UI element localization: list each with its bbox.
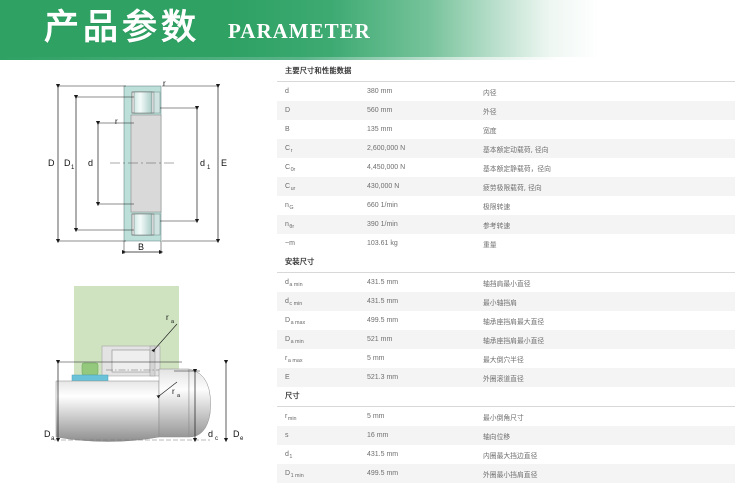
row-value: 2,600,000 N	[359, 139, 475, 158]
svg-text:d: d	[200, 158, 205, 168]
row-symbol: da min	[277, 273, 359, 292]
row-description: 内径	[475, 82, 735, 101]
row-description: 极限转速	[475, 196, 735, 215]
row-symbol-subscript: G	[289, 205, 294, 211]
svg-text:D: D	[64, 158, 71, 168]
table-row: B 135 mm 宽度	[277, 120, 735, 139]
row-symbol: Da min	[277, 330, 359, 349]
table-row: ~m 103.61 kg 重量	[277, 234, 735, 253]
main-dimensions-table: d 380 mm 内径 D 560 mm 外径 B 135 mm 宽度 Cr 2…	[277, 82, 735, 253]
row-description: 基本额定动载荷, 径向	[475, 139, 735, 158]
row-symbol-subscript: ur	[290, 186, 295, 192]
row-value: 499.5 mm	[359, 464, 475, 483]
svg-text:D: D	[48, 158, 55, 168]
svg-text:D: D	[44, 429, 51, 439]
row-symbol-subscript: c min	[289, 301, 302, 307]
svg-text:d: d	[208, 429, 213, 439]
dimensions-table: rmin 5 mm 最小倒角尺寸 s 16 mm 轴向位移 d1 431.5 m…	[277, 407, 735, 483]
row-symbol: ~m	[277, 234, 359, 253]
banner-title-group: 产品参数 PARAMETER	[44, 0, 371, 57]
page-header-banner: 产品参数 PARAMETER	[0, 0, 750, 57]
table-row: Cr 2,600,000 N 基本额定动载荷, 径向	[277, 139, 735, 158]
page-title: 产品参数	[44, 11, 200, 46]
row-value: 431.5 mm	[359, 445, 475, 464]
svg-text:r: r	[166, 313, 169, 322]
row-symbol: d1	[277, 445, 359, 464]
row-symbol: C0r	[277, 158, 359, 177]
section-heading-main-dimensions: 主要尺寸和性能数据	[277, 62, 735, 81]
table-row: Da min 521 mm 轴承座挡肩最小直径	[277, 330, 735, 349]
row-symbol-subscript: 0r	[290, 167, 295, 173]
row-symbol-subscript: θr	[289, 224, 294, 230]
svg-text:c: c	[215, 436, 218, 442]
row-value: 431.5 mm	[359, 292, 475, 311]
row-value: 380 mm	[359, 82, 475, 101]
table-row: rmin 5 mm 最小倒角尺寸	[277, 407, 735, 426]
row-symbol-subscript: min	[287, 416, 296, 422]
bearing-cross-section-drawing: D D 1 d d 1 E	[22, 66, 262, 261]
svg-text:D: D	[233, 429, 240, 439]
section-heading-mounting-dimensions: 安装尺寸	[277, 253, 735, 272]
row-symbol-subscript: a min	[289, 282, 303, 288]
table-row: D 560 mm 外径	[277, 101, 735, 120]
row-value: 103.61 kg	[359, 234, 475, 253]
row-symbol-subscript: 1	[289, 454, 293, 460]
technical-drawings: D D 1 d d 1 E	[0, 62, 272, 482]
row-symbol-subscript: r	[290, 148, 292, 154]
row-symbol: nG	[277, 196, 359, 215]
row-symbol-subscript: a max	[290, 320, 305, 326]
row-value: 660 1/min	[359, 196, 475, 215]
parameter-table-panel: 主要尺寸和性能数据 d 380 mm 内径 D 560 mm 外径 B 135 …	[277, 62, 735, 477]
table-row: s 16 mm 轴向位移	[277, 426, 735, 445]
row-value: 521.3 mm	[359, 368, 475, 387]
row-description: 疲劳极限载荷, 径向	[475, 177, 735, 196]
row-value: 560 mm	[359, 101, 475, 120]
table-row: d1 431.5 mm 内圈最大挡边直径	[277, 445, 735, 464]
row-description: 外径	[475, 101, 735, 120]
row-description: 重量	[475, 234, 735, 253]
row-symbol-subscript: 1 min	[290, 473, 304, 479]
table-row: dc min 431.5 mm 最小轴挡肩	[277, 292, 735, 311]
svg-text:r: r	[163, 79, 166, 88]
section-heading-dimensions: 尺寸	[277, 387, 735, 406]
table-row: d 380 mm 内径	[277, 82, 735, 101]
row-symbol: E	[277, 368, 359, 387]
row-description: 最大倒穴半径	[475, 349, 735, 368]
row-symbol-subscript: a max	[287, 358, 302, 364]
mounting-dimensions-table: da min 431.5 mm 轴挡肩最小直径 dc min 431.5 mm …	[277, 273, 735, 387]
row-symbol: B	[277, 120, 359, 139]
svg-text:r: r	[115, 117, 118, 126]
row-symbol: Da max	[277, 311, 359, 330]
table-row: nG 660 1/min 极限转速	[277, 196, 735, 215]
page-subtitle: PARAMETER	[228, 19, 371, 44]
row-symbol: nθr	[277, 215, 359, 234]
row-value: 16 mm	[359, 426, 475, 445]
row-symbol: Cr	[277, 139, 359, 158]
svg-text:E: E	[221, 158, 227, 168]
svg-text:B: B	[138, 242, 144, 252]
row-value: 430,000 N	[359, 177, 475, 196]
table-row: C0r 4,450,000 N 基本额定静载荷，径向	[277, 158, 735, 177]
row-description: 轴向位移	[475, 426, 735, 445]
row-symbol: D1 min	[277, 464, 359, 483]
row-value: 4,450,000 N	[359, 158, 475, 177]
table-row: Da max 499.5 mm 轴承座挡肩最大直径	[277, 311, 735, 330]
row-symbol: D	[277, 101, 359, 120]
row-description: 参考转速	[475, 215, 735, 234]
banner-underline	[0, 57, 750, 60]
row-description: 最小倒角尺寸	[475, 407, 735, 426]
row-description: 基本额定静载荷，径向	[475, 158, 735, 177]
row-description: 最小轴挡肩	[475, 292, 735, 311]
row-description: 内圈最大挡边直径	[475, 445, 735, 464]
mounting-dimensions-drawing: D a d c D e r a r a	[14, 274, 270, 474]
row-symbol: Cur	[277, 177, 359, 196]
row-symbol: d	[277, 82, 359, 101]
row-symbol: rmin	[277, 407, 359, 426]
row-symbol: ra max	[277, 349, 359, 368]
table-row: nθr 390 1/min 参考转速	[277, 215, 735, 234]
table-row: E 521.3 mm 外圈滚道直径	[277, 368, 735, 387]
row-description: 轴挡肩最小直径	[475, 273, 735, 292]
row-value: 5 mm	[359, 407, 475, 426]
row-description: 外圈最小挡肩直径	[475, 464, 735, 483]
row-description: 轴承座挡肩最大直径	[475, 311, 735, 330]
row-value: 135 mm	[359, 120, 475, 139]
table-row: Cur 430,000 N 疲劳极限载荷, 径向	[277, 177, 735, 196]
row-symbol: s	[277, 426, 359, 445]
table-row: D1 min 499.5 mm 外圈最小挡肩直径	[277, 464, 735, 483]
row-value: 390 1/min	[359, 215, 475, 234]
row-value: 5 mm	[359, 349, 475, 368]
table-row: ra max 5 mm 最大倒穴半径	[277, 349, 735, 368]
row-value: 431.5 mm	[359, 273, 475, 292]
row-symbol-subscript: a min	[290, 339, 304, 345]
svg-text:r: r	[172, 387, 175, 396]
row-symbol: dc min	[277, 292, 359, 311]
svg-text:d: d	[88, 158, 93, 168]
row-value: 499.5 mm	[359, 311, 475, 330]
table-row: da min 431.5 mm 轴挡肩最小直径	[277, 273, 735, 292]
row-value: 521 mm	[359, 330, 475, 349]
row-description: 外圈滚道直径	[475, 368, 735, 387]
row-description: 宽度	[475, 120, 735, 139]
row-description: 轴承座挡肩最小直径	[475, 330, 735, 349]
